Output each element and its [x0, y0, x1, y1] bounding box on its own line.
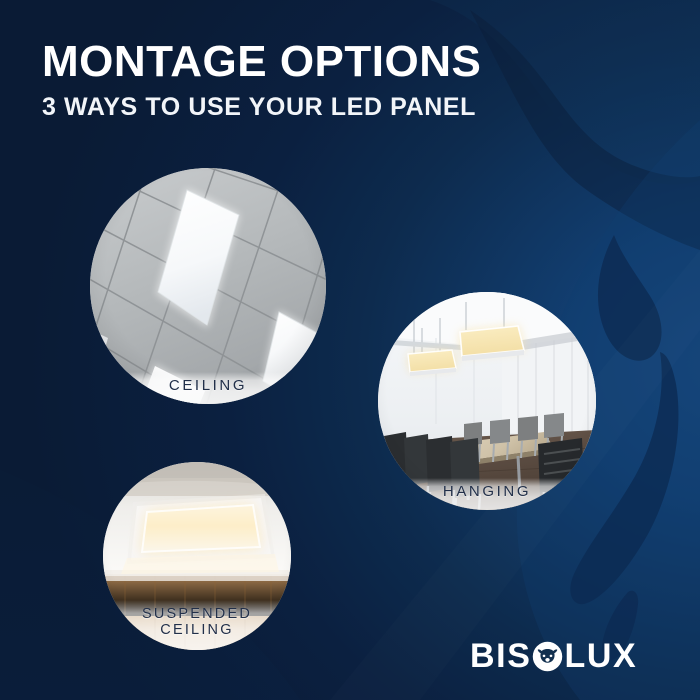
header: MONTAGE OPTIONS 3 WAYS TO USE YOUR LED P…: [42, 40, 602, 120]
bison-head-icon: [532, 641, 563, 672]
caption-hanging: HANGING: [378, 478, 596, 510]
caption-line-2: CEILING: [109, 622, 285, 638]
caption-suspended-ceiling: SUSPENDED CEILING: [103, 600, 291, 650]
option-hanging[interactable]: HANGING: [378, 292, 596, 510]
logo-wordmark: BIS LUX: [470, 639, 637, 673]
page-subtitle: 3 WAYS TO USE YOUR LED PANEL: [42, 95, 602, 120]
caption-line-1: SUSPENDED: [142, 606, 252, 622]
option-suspended-ceiling[interactable]: SUSPENDED CEILING: [103, 462, 291, 650]
ceiling-scene-image: [90, 168, 326, 404]
brand-logo: BIS LUX: [470, 636, 637, 676]
caption-ceiling: CEILING: [90, 372, 326, 404]
page-title: MONTAGE OPTIONS: [42, 40, 602, 84]
logo-text-before: BIS: [470, 639, 531, 673]
option-ceiling[interactable]: CEILING: [90, 168, 326, 404]
poster-canvas: MONTAGE OPTIONS 3 WAYS TO USE YOUR LED P…: [0, 0, 700, 700]
logo-text-after: LUX: [564, 639, 637, 673]
decor-leaf-upper: [598, 235, 662, 361]
